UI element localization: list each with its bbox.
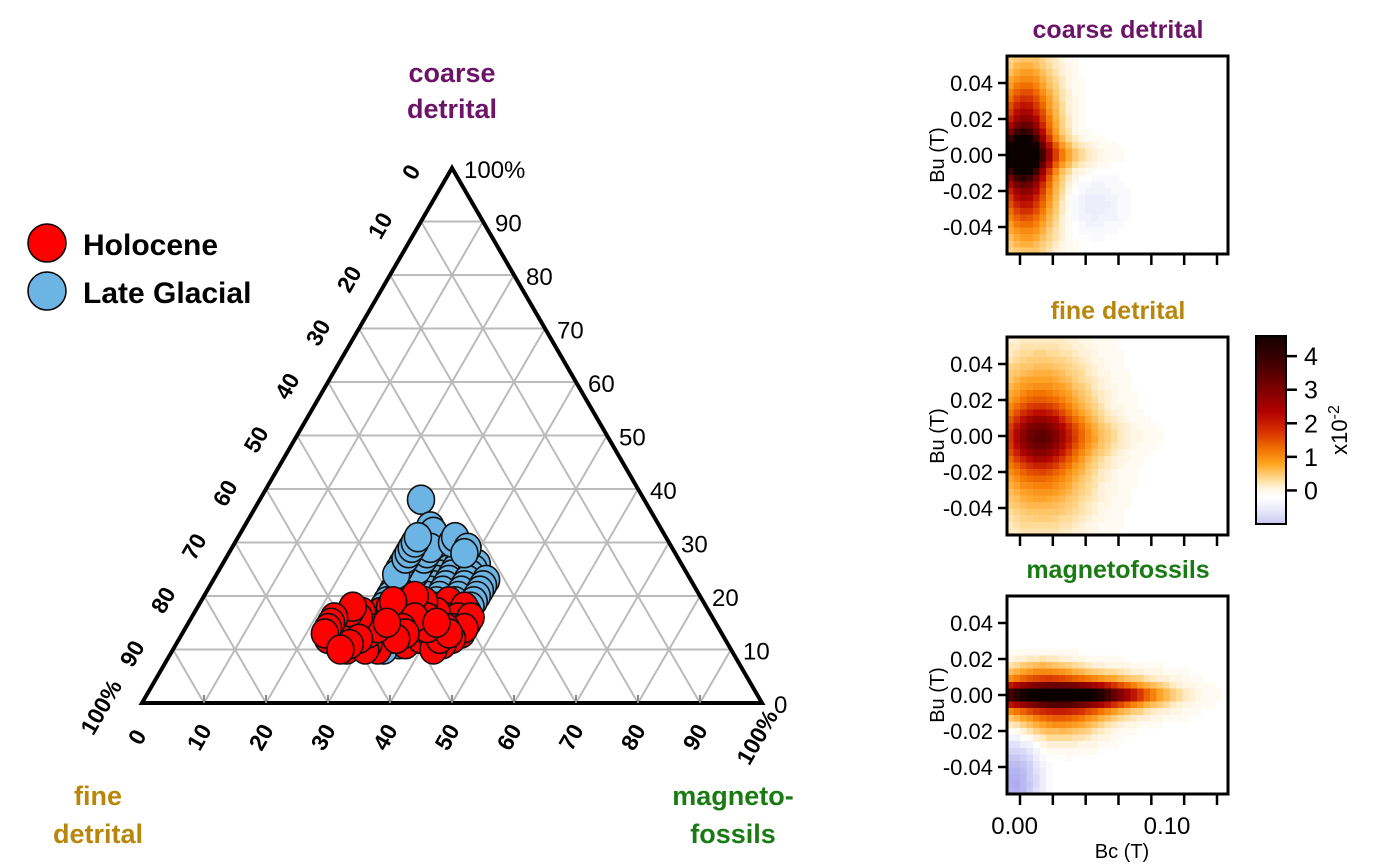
forc-cell (1033, 515, 1040, 522)
forc-cell (1079, 456, 1086, 463)
forc-cell (1085, 410, 1092, 417)
forc-cell (1014, 655, 1021, 662)
forc-cell (1014, 82, 1021, 89)
forc-cell (1131, 721, 1138, 728)
forc-cell (1020, 63, 1027, 70)
forc-cell (1059, 181, 1066, 188)
forc-cell (1085, 363, 1092, 370)
forc-cell (1033, 410, 1040, 417)
forc-cell (1098, 234, 1105, 241)
forc-cell (1020, 148, 1027, 155)
forc-cell (1072, 155, 1079, 162)
forc-cell (1092, 155, 1099, 162)
forc-cell (1040, 443, 1047, 450)
forc-cell (1059, 69, 1066, 76)
forc-cell (1118, 410, 1125, 417)
forc-cell (1072, 195, 1079, 202)
forc-cell (1157, 662, 1164, 669)
forc-cell (1085, 214, 1092, 221)
forc-cell (1053, 214, 1060, 221)
forc-cell (1072, 489, 1079, 496)
forc-cell (1040, 682, 1047, 689)
forc-cell (1046, 195, 1053, 202)
forc-cell (1033, 715, 1040, 722)
forc-cell (1014, 502, 1021, 509)
forc-cell (1163, 708, 1170, 715)
forc-cell (1150, 721, 1157, 728)
forc-cell (1072, 181, 1079, 188)
forc-cell (1040, 129, 1047, 136)
forc-cell (1066, 396, 1073, 403)
forc-cell (1098, 728, 1105, 735)
forc-cell (1098, 489, 1105, 496)
forc-cell (1033, 429, 1040, 436)
forc-cell (1118, 462, 1125, 469)
forc-cell (1020, 357, 1027, 364)
forc-cell (1014, 443, 1021, 450)
forc-cell (1131, 662, 1138, 669)
forc-cell (1014, 109, 1021, 116)
forc-cell (1027, 682, 1034, 689)
forc-cell (1014, 228, 1021, 235)
forc-cell (1098, 396, 1105, 403)
forc-cell (1072, 469, 1079, 476)
forc-cell (1053, 502, 1060, 509)
forc-cell (1098, 462, 1105, 469)
forc-xtick-label: 0.00 (991, 813, 1038, 840)
forc-cell (1111, 357, 1118, 364)
forc-cell (1215, 695, 1222, 702)
forc-cell (1020, 436, 1027, 443)
forc-cell (1020, 403, 1027, 410)
forc-cell (1072, 214, 1079, 221)
forc-cell (1092, 234, 1099, 241)
forc-cell (1124, 390, 1131, 397)
forc-cell (1085, 344, 1092, 351)
forc-cell (1020, 208, 1027, 215)
forc-cell (1124, 669, 1131, 676)
forc-cell (1027, 403, 1034, 410)
forc-cell (1111, 695, 1118, 702)
forc-cell (1150, 429, 1157, 436)
forc-cell (1092, 195, 1099, 202)
forc-cell (1111, 201, 1118, 208)
forc-cell (1027, 721, 1034, 728)
forc-cell (1118, 363, 1125, 370)
forc-cell (1079, 350, 1086, 357)
forc-cell (1040, 515, 1047, 522)
forc-cell (1092, 208, 1099, 215)
forc-cell (1118, 436, 1125, 443)
forc-cell (1105, 410, 1112, 417)
forc-cell (1014, 241, 1021, 248)
forc-cell (1066, 363, 1073, 370)
forc-cell (1040, 214, 1047, 221)
forc-cell (1150, 682, 1157, 689)
forc-cell (1053, 370, 1060, 377)
forc-cell (1072, 502, 1079, 509)
forc-cell (1014, 115, 1021, 122)
forc-cell (1027, 135, 1034, 142)
forc-cell (1040, 168, 1047, 175)
forc-cell (1020, 768, 1027, 775)
forc-cell (1046, 774, 1053, 781)
forc-cell (1066, 410, 1073, 417)
forc-cell (1092, 344, 1099, 351)
forc-cell (1085, 675, 1092, 682)
forc-cell (1059, 357, 1066, 364)
forc-heatmap-magnetofossils (1007, 649, 1222, 795)
forc-cell (1098, 509, 1105, 516)
forc-cell (1079, 115, 1086, 122)
forc-cell (1098, 702, 1105, 709)
forc-cell (1098, 135, 1105, 142)
forc-cell (1053, 429, 1060, 436)
forc-cell (1079, 476, 1086, 483)
legend-label-late-glacial: Late Glacial (83, 277, 251, 310)
forc-cell (1098, 669, 1105, 676)
forc-cell (1040, 449, 1047, 456)
forc-cell (1072, 416, 1079, 423)
forc-cell (1014, 390, 1021, 397)
forc-cell (1066, 201, 1073, 208)
forc-cell (1014, 63, 1021, 70)
forc-title-fine-detrital: fine detrital (1051, 297, 1186, 325)
forc-cell (1118, 715, 1125, 722)
forc-cell (1124, 429, 1131, 436)
forc-cell (1014, 662, 1021, 669)
forc-cell (1072, 390, 1079, 397)
forc-cell (1105, 741, 1112, 748)
forc-cell (1098, 522, 1105, 529)
forc-cell (1014, 682, 1021, 689)
ternary-bottom-tick-label: 0 (123, 725, 152, 749)
forc-cell (1040, 495, 1047, 502)
forc-cell (1111, 495, 1118, 502)
forc-cell (1118, 515, 1125, 522)
forc-cell (1040, 708, 1047, 715)
forc-cell (1092, 515, 1099, 522)
forc-cell (1053, 234, 1060, 241)
forc-cell (1085, 168, 1092, 175)
forc-cell (1033, 469, 1040, 476)
forc-cell (1027, 241, 1034, 248)
forc-cell (1079, 221, 1086, 228)
forc-cell (1079, 482, 1086, 489)
forc-cell (1150, 669, 1157, 676)
forc-cell (1033, 754, 1040, 761)
forc-cell (1040, 89, 1047, 96)
forc-cell (1046, 416, 1053, 423)
forc-cell (1098, 708, 1105, 715)
forc-cell (1183, 675, 1190, 682)
forc-cell (1111, 175, 1118, 182)
forc-cell (1040, 76, 1047, 83)
forc-cell (1053, 669, 1060, 676)
forc-cell (1020, 495, 1027, 502)
forc-cell (1098, 228, 1105, 235)
forc-cell (1072, 383, 1079, 390)
forc-cell (1183, 715, 1190, 722)
forc-cell (1033, 155, 1040, 162)
forc-cell (1072, 363, 1079, 370)
ternary-svg: 0102030405060708090100%100%9080706050403… (0, 0, 900, 864)
forc-cell (1137, 669, 1144, 676)
forc-cell (1189, 688, 1196, 695)
forc-cell (1014, 708, 1021, 715)
forc-cell (1046, 695, 1053, 702)
forc-cell (1105, 181, 1112, 188)
forc-cell (1020, 669, 1027, 676)
forc-cell (1033, 509, 1040, 516)
forc-cell (1020, 195, 1027, 202)
forc-cell (1170, 715, 1177, 722)
ternary-data-point (408, 485, 435, 514)
forc-cell (1040, 715, 1047, 722)
forc-cell (1176, 688, 1183, 695)
forc-cell (1027, 181, 1034, 188)
forc-cell (1124, 476, 1131, 483)
forc-cell (1131, 410, 1138, 417)
forc-cell (1033, 135, 1040, 142)
forc-cell (1137, 443, 1144, 450)
forc-cell (1066, 469, 1073, 476)
forc-cell (1079, 201, 1086, 208)
forc-cell (1020, 423, 1027, 430)
forc-cell (1092, 662, 1099, 669)
forc-cell (1027, 509, 1034, 516)
forc-cell (1059, 675, 1066, 682)
forc-cell (1124, 662, 1131, 669)
forc-cell (1131, 469, 1138, 476)
forc-cell (1053, 129, 1060, 136)
forc-cell (1066, 682, 1073, 689)
forc-cell (1098, 181, 1105, 188)
forc-cell (1092, 135, 1099, 142)
forc-cell (1040, 82, 1047, 89)
forc-ytick-label: 0.04 (950, 611, 993, 636)
forc-cell (1111, 344, 1118, 351)
forc-xtick-labels-magnetofossils: 0.000.10 (991, 813, 1190, 840)
ternary-left-tick-label: 100% (75, 675, 127, 739)
forc-cell (1027, 357, 1034, 364)
forc-ytick-label: 0.00 (950, 143, 993, 168)
forc-cell (1098, 682, 1105, 689)
forc-cell (1046, 115, 1053, 122)
forc-cell (1111, 482, 1118, 489)
forc-cell (1053, 410, 1060, 417)
forc-cell (1053, 63, 1060, 70)
forc-cell (1105, 155, 1112, 162)
forc-cell (1046, 234, 1053, 241)
ternary-bottom-tick-label: 100% (731, 705, 783, 769)
forc-cell (1079, 155, 1086, 162)
forc-cell (1014, 175, 1021, 182)
forc-cell (1046, 377, 1053, 384)
forc-cell (1040, 175, 1047, 182)
forc-cell (1027, 363, 1034, 370)
forc-cell (1092, 436, 1099, 443)
forc-cell (1040, 135, 1047, 142)
ternary-bottom-tick-label: 20 (243, 719, 278, 754)
forc-cell (1066, 155, 1073, 162)
forc-cell (1020, 449, 1027, 456)
forc-cell (1118, 728, 1125, 735)
forc-cell (1027, 410, 1034, 417)
forc-cell (1053, 142, 1060, 149)
forc-cell (1033, 669, 1040, 676)
forc-cell (1085, 695, 1092, 702)
forc-cell (1046, 208, 1053, 215)
forc-cell (1066, 655, 1073, 662)
forc-cell (1014, 89, 1021, 96)
forc-cell (1040, 370, 1047, 377)
forc-cell (1046, 221, 1053, 228)
forc-cell (1111, 655, 1118, 662)
forc-cell (1111, 155, 1118, 162)
forc-cell (1020, 774, 1027, 781)
forc-cell (1098, 350, 1105, 357)
forc-cell (1046, 350, 1053, 357)
forc-cell (1033, 228, 1040, 235)
forc-cell (1040, 509, 1047, 516)
forc-cell (1150, 695, 1157, 702)
forc-cell (1040, 221, 1047, 228)
forc-cell (1046, 702, 1053, 709)
ternary-right-tick-label: 100% (464, 157, 525, 184)
forc-cell (1033, 129, 1040, 136)
forc-cell (1066, 675, 1073, 682)
forc-cell (1033, 761, 1040, 768)
forc-cell (1014, 721, 1021, 728)
forc-cell (1040, 403, 1047, 410)
ternary-data-point (327, 635, 354, 664)
forc-cell (1046, 443, 1053, 450)
forc-cell (1040, 436, 1047, 443)
forc-cell (1072, 675, 1079, 682)
forc-cell (1046, 76, 1053, 83)
forc-cell (1033, 390, 1040, 397)
forc-cell (1111, 662, 1118, 669)
forc-cell (1098, 423, 1105, 430)
forc-cell (1066, 135, 1073, 142)
forc-cell (1137, 675, 1144, 682)
forc-cell (1131, 715, 1138, 722)
colorbar-tick-label: 4 (1304, 343, 1318, 371)
forc-cell (1085, 155, 1092, 162)
forc-cell (1059, 228, 1066, 235)
ternary-left-tick-label: 90 (114, 636, 149, 671)
forc-cell (1098, 416, 1105, 423)
forc-cell (1033, 768, 1040, 775)
forc-cell (1111, 429, 1118, 436)
forc-cell (1046, 142, 1053, 149)
forc-cell (1072, 476, 1079, 483)
forc-cell (1209, 702, 1216, 709)
forc-cell (1066, 662, 1073, 669)
forc-cell (1092, 509, 1099, 516)
forc-cell (1118, 482, 1125, 489)
forc-cell (1098, 162, 1105, 169)
forc-cell (1072, 76, 1079, 83)
forc-cell (1020, 662, 1027, 669)
forc-xlabel: Bc (T) (1095, 841, 1149, 863)
forc-cell (1040, 142, 1047, 149)
forc-cell (1144, 682, 1151, 689)
ternary-left-tick-label: 50 (238, 422, 273, 457)
forc-cell (1053, 115, 1060, 122)
forc-cell (1059, 482, 1066, 489)
forc-cell (1040, 383, 1047, 390)
forc-cell (1105, 390, 1112, 397)
forc-cell (1118, 662, 1125, 669)
colorbar-tick-label: 0 (1304, 477, 1318, 505)
forc-cell (1027, 662, 1034, 669)
forc-cell (1053, 228, 1060, 235)
forc-cell (1040, 476, 1047, 483)
forc-cell (1131, 436, 1138, 443)
forc-cell (1079, 449, 1086, 456)
forc-cell (1027, 109, 1034, 116)
forc-cell (1118, 195, 1125, 202)
forc-cell (1124, 403, 1131, 410)
forc-cell (1105, 702, 1112, 709)
forc-cell (1040, 122, 1047, 129)
forc-cell (1105, 682, 1112, 689)
forc-cell (1098, 662, 1105, 669)
forc-cell (1033, 350, 1040, 357)
forc-cell (1196, 675, 1203, 682)
forc-cell (1046, 122, 1053, 129)
forc-cell (1027, 82, 1034, 89)
forc-cell (1033, 69, 1040, 76)
forc-cell (1046, 96, 1053, 103)
forc-cell (1014, 102, 1021, 109)
forc-cell (1111, 370, 1118, 377)
legend-marker-holocene (28, 224, 66, 262)
forc-cell (1027, 168, 1034, 175)
forc-cell (1040, 675, 1047, 682)
forc-cell (1020, 515, 1027, 522)
forc-cell (1053, 715, 1060, 722)
forc-cell (1027, 76, 1034, 83)
forc-cell (1092, 502, 1099, 509)
forc-cell (1046, 669, 1053, 676)
forc-cell (1020, 741, 1027, 748)
forc-cell (1118, 443, 1125, 450)
forc-cell (1053, 76, 1060, 83)
forc-cell (1105, 383, 1112, 390)
forc-cell (1033, 443, 1040, 450)
forc-cell (1124, 383, 1131, 390)
forc-cell (1079, 188, 1086, 195)
forc-xticks-fine-detrital (1020, 535, 1217, 546)
forc-cell (1079, 702, 1086, 709)
forc-cell (1105, 214, 1112, 221)
forc-cell (1020, 234, 1027, 241)
forc-cell (1118, 688, 1125, 695)
forc-cell (1033, 357, 1040, 364)
forc-cell (1150, 708, 1157, 715)
forc-cell (1189, 708, 1196, 715)
forc-cell (1079, 89, 1086, 96)
forc-cell (1020, 241, 1027, 248)
forc-cell (1040, 115, 1047, 122)
forc-cell (1059, 443, 1066, 450)
forc-cell (1085, 476, 1092, 483)
forc-cell (1059, 702, 1066, 709)
forc-cell (1118, 469, 1125, 476)
